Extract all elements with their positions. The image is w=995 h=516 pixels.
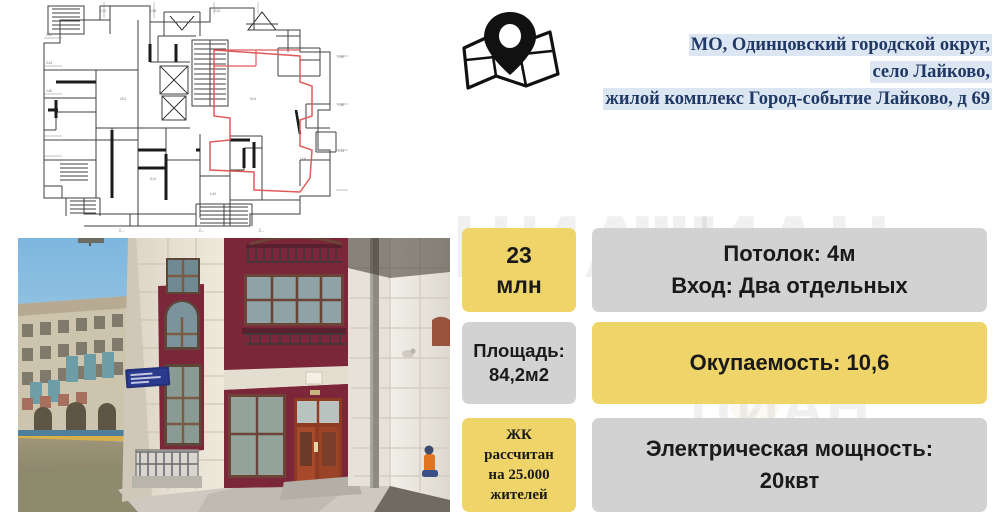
payback-badge: Окупаемость: 10,6: [592, 322, 987, 404]
svg-text:1,80: 1,80: [338, 103, 344, 107]
svg-text:2,40: 2,40: [338, 55, 344, 59]
svg-text:6,20: 6,20: [198, 231, 204, 232]
power-value: 20квт: [646, 465, 933, 497]
residents-line-3: на 25.000: [484, 465, 554, 485]
address-line-3: жилой комплекс Город-событие Лайково, д …: [603, 88, 992, 110]
svg-text:3,10: 3,10: [258, 231, 264, 232]
electric-power-badge: Электрическая мощность: 20квт: [592, 418, 987, 512]
floor-plan-image: 2,103,452,80 2,701,953,20 2,401,802,15 4…: [0, 0, 372, 232]
svg-text:2,80: 2,80: [46, 89, 52, 93]
area-value: 84,2м2: [473, 363, 565, 387]
price-value: 23: [496, 240, 542, 270]
svg-text:3,45: 3,45: [46, 61, 52, 65]
ceiling-height: Потолок: 4м: [671, 238, 907, 270]
address-line-1: МО, Одинцовский городской округ,: [689, 34, 992, 56]
area-badge: Площадь: 84,2м2: [462, 322, 576, 404]
residents-line-2: рассчитан: [484, 445, 554, 465]
svg-text:54,6: 54,6: [250, 97, 256, 101]
building-exterior-photo: [18, 238, 450, 512]
svg-text:1,95: 1,95: [150, 9, 156, 13]
residents-line-4: жителей: [484, 485, 554, 505]
entrance-info: Вход: Два отдельных: [671, 270, 907, 302]
residents-line-1: ЖК: [484, 425, 554, 445]
listing-card: ЦИАН ЦИАН ЦИАН: [0, 0, 995, 516]
price-badge: 23 млн: [462, 228, 576, 312]
ceiling-entrance-badge: Потолок: 4м Вход: Два отдельных: [592, 228, 987, 312]
area-label: Площадь:: [473, 339, 565, 363]
svg-text:3,20: 3,20: [214, 9, 220, 13]
power-label: Электрическая мощность:: [646, 433, 933, 465]
payback-value: Окупаемость: 10,6: [690, 348, 890, 378]
property-info-grid: 23 млн Потолок: 4м Вход: Два отдельных П…: [462, 228, 987, 512]
svg-text:8,10: 8,10: [150, 177, 156, 181]
svg-text:4,50: 4,50: [118, 231, 124, 232]
svg-text:25,4: 25,4: [120, 97, 126, 101]
price-unit: млн: [496, 270, 542, 300]
svg-text:2,15: 2,15: [338, 149, 344, 153]
address-text: МО, Одинцовский городской округ, село Ла…: [536, 32, 992, 113]
svg-text:6,40: 6,40: [210, 192, 216, 196]
address-line-2: село Лайково,: [870, 61, 992, 83]
residents-badge: ЖК рассчитан на 25.000 жителей: [462, 418, 576, 512]
svg-text:12,8: 12,8: [300, 157, 306, 161]
address-header: МО, Одинцовский городской округ, село Ла…: [452, 4, 992, 124]
svg-text:2,10: 2,10: [46, 33, 52, 37]
svg-text:2,70: 2,70: [100, 9, 106, 13]
